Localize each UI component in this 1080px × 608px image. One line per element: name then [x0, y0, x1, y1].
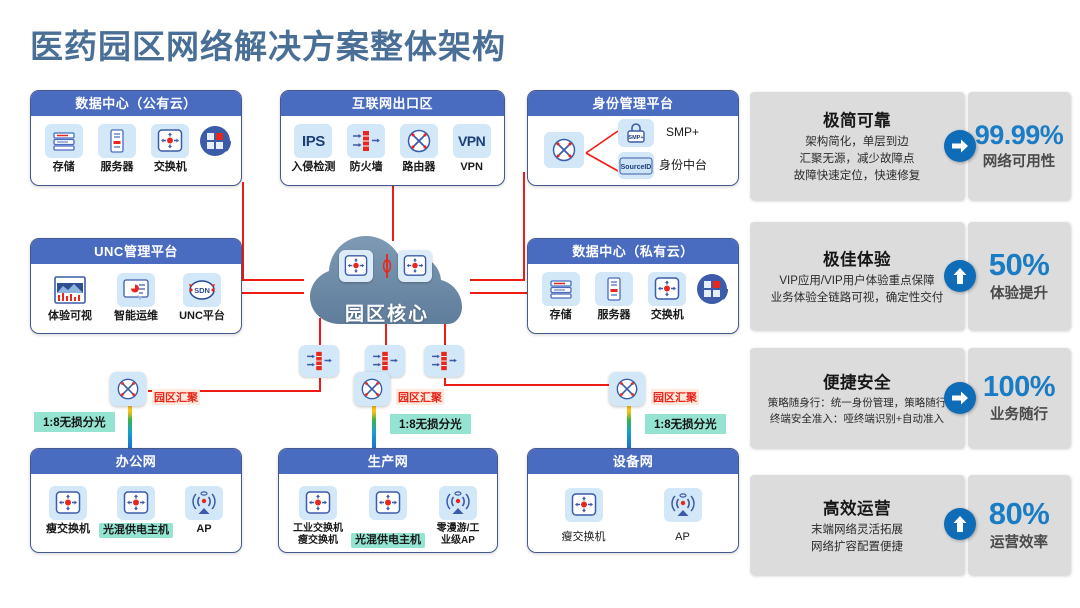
svg-text:SMP+: SMP+: [628, 135, 643, 141]
ap-icon: [439, 486, 477, 520]
switch-icon: [565, 488, 603, 522]
device-label: 光混供电主机: [351, 533, 425, 548]
firewall-chip-3[interactable]: [424, 345, 464, 377]
svg-text:SourceID: SourceID: [621, 164, 652, 171]
split-label-3: 1:8无损分光: [645, 414, 726, 434]
device-label: 零漫游/工业级AP: [433, 523, 483, 546]
zone-unc-platform[interactable]: UNC管理平台 体验可视 智能运维 SDN UNC平台: [30, 238, 242, 334]
aggregation-switch-3[interactable]: [609, 372, 645, 406]
arrow-right-icon: [944, 382, 976, 414]
switch-icon: [49, 486, 87, 520]
device-router[interactable]: 路由器: [393, 124, 446, 174]
device-vpn[interactable]: VPN VPN: [445, 124, 498, 174]
device-label: AP: [196, 523, 211, 536]
benefit-line: VIP应用/VIP用户体验重点保障: [779, 273, 934, 290]
kpi-value: 80%: [989, 498, 1050, 531]
device-label: 服务器: [100, 161, 133, 174]
zone-public-datacenter[interactable]: 数据中心（公有云） 存储 服务器 交换机: [30, 90, 242, 186]
zone-title: 数据中心（公有云）: [31, 91, 241, 116]
page-title: 医药园区网络解决方案整体架构: [30, 20, 506, 68]
device-server[interactable]: 服务器: [90, 124, 143, 174]
storage-icon: [542, 272, 580, 306]
device-label: 光混供电主机: [99, 523, 173, 538]
benefit-line: 汇聚无源，减少故障点: [800, 151, 915, 168]
fiber-drop-production: [372, 404, 376, 448]
kpi-value: 99.99%: [975, 121, 1064, 149]
svg-text:SDN: SDN: [194, 286, 210, 295]
benefit-panel-1[interactable]: 极简可靠 架构简化，单层到边 汇聚无源，减少故障点 故障快速定位，快速修复: [750, 92, 964, 200]
zone-title: 设备网: [528, 449, 738, 474]
fiber-drop-equipment: [627, 404, 631, 448]
device-label: 瘦交换机: [46, 523, 90, 536]
switch-icon: [648, 272, 686, 306]
zone-production-network[interactable]: 生产网 工业交换机 瘦交换机 光混供电主机 零漫游/工业级AP: [278, 448, 498, 553]
device-label: 防火墙: [350, 161, 383, 174]
benefit-title: 高效运营: [823, 495, 891, 519]
fiber-drop-office: [128, 404, 132, 448]
cloud-tiles-icon: [197, 124, 235, 158]
kpi-label: 网络可用性: [983, 150, 1056, 171]
aggregation-label-2: 园区汇聚: [396, 389, 444, 405]
benefit-panel-3[interactable]: 便捷安全 策略随身行：统一身份管理，策略随行 终端安全准入：哑终端识别+自动准入: [750, 348, 964, 448]
kpi-panel-3[interactable]: 100% 业务随行: [968, 348, 1070, 448]
device-label: VPN: [460, 161, 483, 174]
zone-title: 数据中心（私有云）: [528, 239, 738, 264]
sdn-icon: SDN: [183, 273, 221, 307]
identity-item-label: 身份中台: [659, 159, 707, 173]
device-label: AP: [675, 531, 690, 544]
device-cloud-tiles[interactable]: [197, 124, 235, 161]
kpi-value: 50%: [989, 249, 1050, 282]
device-storage[interactable]: 存储: [534, 272, 587, 322]
aggregation-switch-2[interactable]: [354, 372, 390, 406]
benefit-title: 极佳体验: [823, 246, 891, 270]
zone-title: UNC管理平台: [31, 239, 241, 264]
zone-title: 互联网出口区: [281, 91, 504, 116]
switch-icon: [151, 124, 189, 158]
server-icon: [595, 272, 633, 306]
aggregation-label-3: 园区汇聚: [651, 389, 699, 405]
firewall-icon: [347, 124, 385, 158]
core-switch-2[interactable]: [398, 250, 432, 282]
device-experience-visibility[interactable]: 体验可视: [37, 273, 103, 323]
vpn-icon: VPN: [453, 124, 491, 158]
zone-office-network[interactable]: 办公网 瘦交换机 光混供电主机 AP: [30, 448, 242, 553]
kpi-value: 100%: [983, 372, 1055, 402]
core-stack-link-icon: [380, 254, 394, 278]
device-label: 服务器: [597, 309, 630, 322]
kpi-panel-2[interactable]: 50% 体验提升: [968, 222, 1070, 330]
storage-icon: [45, 124, 83, 158]
device-switch[interactable]: 交换机: [641, 272, 694, 322]
device-storage[interactable]: 存储: [37, 124, 90, 174]
benefit-line: 终端安全准入：哑终端识别+自动准入: [770, 412, 944, 427]
device-server[interactable]: 服务器: [587, 272, 640, 322]
device-intelligent-ops[interactable]: 智能运维: [103, 273, 169, 323]
cloud-tiles-icon: [694, 272, 732, 306]
device-label: 瘦交换机: [562, 531, 606, 544]
arrow-up-icon: [944, 508, 976, 540]
device-industrial-ap[interactable]: 零漫游/工业级AP: [425, 486, 491, 546]
core-switch-1[interactable]: [339, 250, 373, 282]
campus-core-cloud[interactable]: 园区核心: [292, 228, 482, 338]
router-icon: [544, 132, 584, 168]
benefit-line: 架构简化，单层到边: [805, 134, 909, 151]
device-unc-platform[interactable]: SDN UNC平台: [169, 273, 235, 323]
kpi-label: 运营效率: [990, 531, 1048, 552]
device-label: 入侵检测: [291, 161, 335, 174]
device-ap[interactable]: AP: [173, 486, 235, 536]
router-icon: [400, 124, 438, 158]
zone-internet-exit[interactable]: 互联网出口区 IPS 入侵检测 防火墙 路由器: [280, 90, 505, 186]
device-ap[interactable]: AP: [633, 488, 732, 544]
benefit-line: 网络扩容配置便捷: [811, 539, 903, 556]
kpi-label: 体验提升: [990, 282, 1048, 303]
zone-identity-platform[interactable]: 身份管理平台 SMP+ SMP+ SourceID 身份中台: [527, 90, 739, 186]
device-label: 路由器: [402, 161, 435, 174]
split-label-2: 1:8无损分光: [390, 414, 471, 434]
benefit-line: 业务体验全链路可视，确定性交付: [771, 290, 944, 307]
benefit-title: 便捷安全: [823, 369, 891, 393]
switch-icon: [369, 486, 407, 520]
split-label-1: 1:8无损分光: [34, 412, 115, 432]
switch-icon: [117, 486, 155, 520]
link-publicdc-down: [242, 182, 244, 280]
benefit-line: 策略随身行：统一身份管理，策略随行: [768, 396, 947, 411]
link-identity-down: [523, 172, 525, 280]
switch-icon: [299, 486, 337, 520]
arrow-up-icon: [944, 260, 976, 292]
device-thin-switch[interactable]: 瘦交换机: [37, 486, 99, 536]
device-label: UNC平台: [179, 310, 225, 323]
ap-icon: [185, 486, 223, 520]
ops-icon: [117, 273, 155, 307]
aggregation-switch-1[interactable]: [110, 372, 146, 406]
device-optical-power-host[interactable]: 光混供电主机: [99, 486, 173, 538]
device-ips[interactable]: IPS 入侵检测: [287, 124, 340, 174]
device-firewall[interactable]: 防火墙: [340, 124, 393, 174]
device-industrial-switch[interactable]: 工业交换机 瘦交换机: [285, 486, 351, 546]
firewall-chip-1[interactable]: [299, 345, 339, 377]
sourceid-icon: SourceID: [618, 152, 654, 179]
lock-smp-icon: SMP+: [618, 119, 654, 147]
zone-private-datacenter[interactable]: 数据中心（私有云） 存储 服务器 交换机: [527, 238, 739, 334]
zone-title: 身份管理平台: [528, 91, 738, 116]
benefit-panel-4[interactable]: 高效运营 末端网络灵活拓展 网络扩容配置便捷: [750, 475, 964, 575]
kpi-panel-4[interactable]: 80% 运营效率: [968, 475, 1070, 575]
device-label: 智能运维: [114, 310, 158, 323]
zone-title: 生产网: [279, 449, 497, 474]
zone-equipment-network[interactable]: 设备网 瘦交换机 AP: [527, 448, 739, 553]
analytics-icon: [51, 273, 89, 307]
ap-icon: [664, 488, 702, 522]
ips-icon: IPS: [294, 124, 332, 158]
identity-item-label: SMP+: [666, 126, 699, 140]
kpi-label: 业务随行: [990, 403, 1048, 424]
kpi-panel-1[interactable]: 99.99% 网络可用性: [968, 92, 1070, 200]
zone-title: 办公网: [31, 449, 241, 474]
device-label: 体验可视: [48, 310, 92, 323]
server-icon: [98, 124, 136, 158]
device-label: 交换机: [154, 161, 187, 174]
aggregation-label-1: 园区汇聚: [152, 389, 200, 405]
device-optical-power-host[interactable]: 光混供电主机: [351, 486, 425, 548]
device-cloud-tiles[interactable]: [694, 272, 732, 309]
device-label: 工业交换机 瘦交换机: [293, 523, 343, 546]
device-label: 存储: [550, 309, 572, 322]
benefit-title: 极简可靠: [823, 107, 891, 131]
benefit-panel-2[interactable]: 极佳体验 VIP应用/VIP用户体验重点保障 业务体验全链路可视，确定性交付: [750, 222, 964, 330]
device-label: 交换机: [651, 309, 684, 322]
architecture-diagram-canvas: 医药园区网络解决方案整体架构 数据中心（公有云） 存储: [0, 0, 1080, 608]
device-thin-switch[interactable]: 瘦交换机: [534, 488, 633, 544]
arrow-right-icon: [944, 130, 976, 162]
benefit-line: 故障快速定位，快速修复: [794, 168, 921, 185]
benefit-line: 末端网络灵活拓展: [811, 522, 903, 539]
core-label: 园区核心: [292, 299, 482, 326]
device-label: 存储: [53, 161, 75, 174]
device-switch[interactable]: 交换机: [144, 124, 197, 174]
